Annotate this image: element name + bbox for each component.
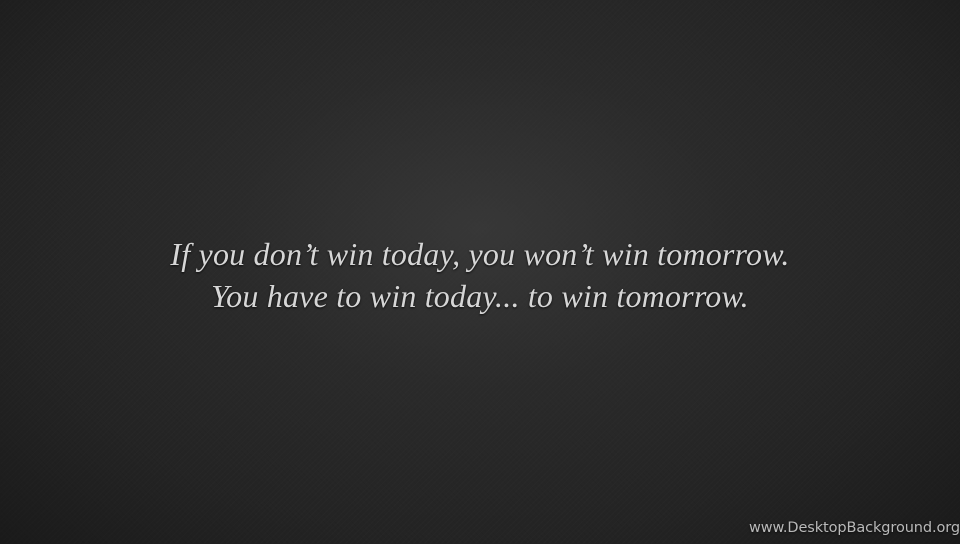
quote-text-block: If you don’t win today, you won’t win to…	[0, 233, 960, 317]
wallpaper-canvas: If you don’t win today, you won’t win to…	[0, 0, 960, 544]
quote-line-1: If you don’t win today, you won’t win to…	[0, 233, 960, 275]
quote-line-2: You have to win today... to win tomorrow…	[0, 275, 960, 317]
watermark-label: www.DesktopBackground.org	[749, 520, 960, 536]
